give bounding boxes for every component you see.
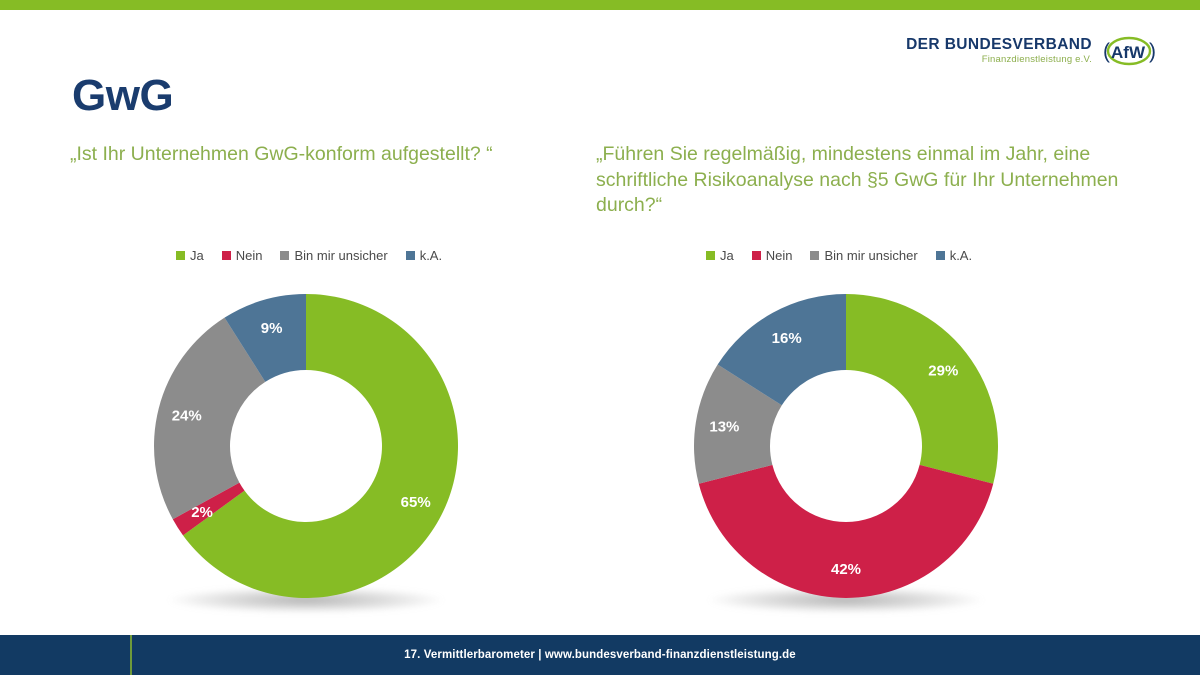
right-chart-legend: Ja Nein Bin mir unsicher k.A. bbox=[706, 248, 972, 263]
svg-text:AfW: AfW bbox=[1111, 43, 1146, 62]
footer-text: 17. Vermittlerbarometer | www.bundesverb… bbox=[0, 635, 1200, 675]
legend-label: Nein bbox=[236, 248, 263, 263]
legend-swatch-icon bbox=[222, 251, 231, 260]
donut-slice bbox=[846, 294, 998, 484]
legend-swatch-icon bbox=[406, 251, 415, 260]
donut-slice-label: 29% bbox=[928, 363, 958, 380]
legend-label: Ja bbox=[720, 248, 734, 263]
donut-slice-label: 9% bbox=[261, 320, 283, 337]
right-donut-chart: 29%42%13%16% bbox=[691, 291, 1001, 601]
page-title: GwG bbox=[72, 74, 173, 118]
legend-item: k.A. bbox=[936, 248, 972, 263]
left-donut-chart: 65%2%24%9% bbox=[151, 291, 461, 601]
legend-item: Ja bbox=[706, 248, 734, 263]
legend-swatch-icon bbox=[280, 251, 289, 260]
legend-item: k.A. bbox=[406, 248, 442, 263]
left-column: „Ist Ihr Unternehmen GwG-konform aufgest… bbox=[70, 142, 590, 168]
legend-swatch-icon bbox=[752, 251, 761, 260]
left-question-text: „Ist Ihr Unternehmen GwG-konform aufgest… bbox=[70, 142, 590, 168]
slide: DER BUNDESVERBAND Finanzdienstleistung e… bbox=[0, 0, 1200, 675]
legend-item: Nein bbox=[222, 248, 263, 263]
right-column: „Führen Sie regelmäßig, mindestens einma… bbox=[596, 142, 1156, 219]
logo-primary-text: DER BUNDESVERBAND bbox=[906, 37, 1092, 53]
brand-logo: DER BUNDESVERBAND Finanzdienstleistung e… bbox=[906, 34, 1158, 68]
legend-label: Bin mir unsicher bbox=[824, 248, 917, 263]
legend-item: Bin mir unsicher bbox=[280, 248, 387, 263]
donut-slice-label: 13% bbox=[709, 419, 739, 436]
legend-item: Bin mir unsicher bbox=[810, 248, 917, 263]
legend-label: Nein bbox=[766, 248, 793, 263]
legend-swatch-icon bbox=[176, 251, 185, 260]
logo-secondary-text: Finanzdienstleistung e.V. bbox=[906, 55, 1092, 65]
legend-label: Ja bbox=[190, 248, 204, 263]
right-donut-svg: 29%42%13%16% bbox=[691, 291, 1001, 601]
logo-text: DER BUNDESVERBAND Finanzdienstleistung e… bbox=[906, 37, 1092, 65]
legend-swatch-icon bbox=[706, 251, 715, 260]
legend-label: k.A. bbox=[420, 248, 442, 263]
donut-slice-label: 65% bbox=[401, 494, 431, 511]
donut-slice-label: 24% bbox=[172, 407, 202, 424]
legend-label: Bin mir unsicher bbox=[294, 248, 387, 263]
top-accent-bar bbox=[0, 0, 1200, 10]
donut-slice-label: 42% bbox=[831, 561, 861, 578]
legend-item: Nein bbox=[752, 248, 793, 263]
legend-label: k.A. bbox=[950, 248, 972, 263]
legend-item: Ja bbox=[176, 248, 204, 263]
footer-bar: 17. Vermittlerbarometer | www.bundesverb… bbox=[0, 635, 1200, 675]
left-donut-svg: 65%2%24%9% bbox=[151, 291, 461, 601]
legend-swatch-icon bbox=[936, 251, 945, 260]
left-chart-legend: Ja Nein Bin mir unsicher k.A. bbox=[176, 248, 442, 263]
afw-logo-icon: ( AfW ) bbox=[1102, 34, 1158, 68]
right-question-text: „Führen Sie regelmäßig, mindestens einma… bbox=[596, 142, 1156, 219]
donut-slice-label: 16% bbox=[772, 330, 802, 347]
legend-swatch-icon bbox=[810, 251, 819, 260]
svg-text:): ) bbox=[1149, 40, 1156, 63]
